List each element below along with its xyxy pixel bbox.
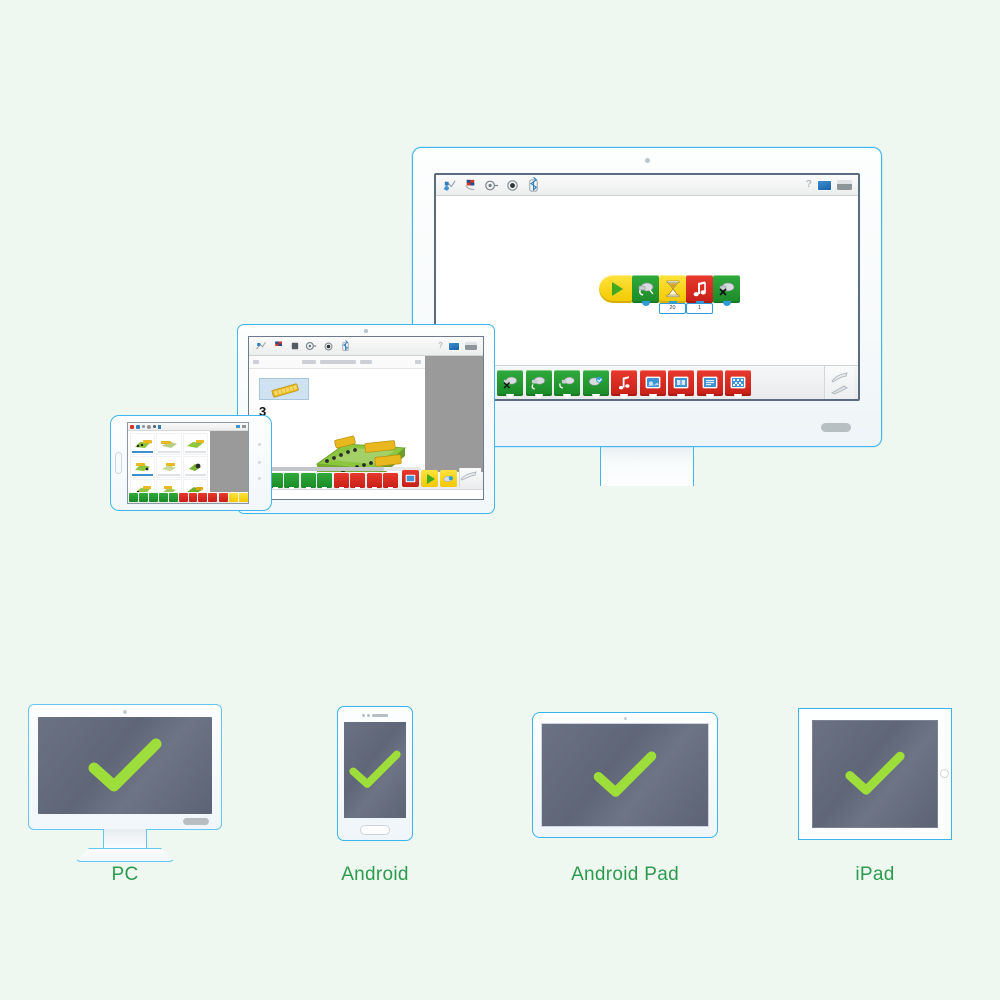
block-palette[interactable] <box>128 492 248 503</box>
checkmark-icon <box>593 751 657 799</box>
brick-thumbnail[interactable] <box>259 378 309 400</box>
phone-screen <box>127 422 249 504</box>
checkmark-icon <box>349 750 401 790</box>
monitor-power-indicator <box>821 423 851 432</box>
compat-label-android-pad: Android Pad <box>500 864 750 886</box>
list-item[interactable] <box>130 433 155 455</box>
compat-label-ipad: iPad <box>750 864 1000 886</box>
panel-icon[interactable] <box>465 342 477 350</box>
monitor-base <box>565 484 729 510</box>
music-note-icon <box>617 375 632 391</box>
palette-block[interactable] <box>129 493 138 502</box>
stop-icon[interactable] <box>142 425 145 428</box>
text-bubble-icon <box>702 376 718 389</box>
home-button[interactable] <box>940 769 949 778</box>
flag-video-icon[interactable] <box>273 340 285 352</box>
palette-tools[interactable] <box>824 366 854 400</box>
lamp-icon <box>586 375 605 390</box>
save-icon[interactable] <box>130 425 134 429</box>
horizontal-scrollbar[interactable] <box>253 467 421 471</box>
stop-button[interactable] <box>402 470 419 487</box>
phone-status-bar <box>344 711 406 720</box>
palette-sound[interactable] <box>611 370 637 396</box>
palette-text[interactable] <box>697 370 723 396</box>
home-button[interactable] <box>360 825 390 835</box>
flag-video-icon[interactable] <box>136 425 140 429</box>
palette-block[interactable] <box>149 493 158 502</box>
list-item[interactable] <box>156 456 181 478</box>
stop-button[interactable] <box>219 493 228 502</box>
checkmark-icon <box>88 738 162 794</box>
wrench-icon[interactable] <box>460 472 478 481</box>
home-button[interactable] <box>115 452 122 474</box>
play-icon <box>427 474 435 484</box>
motor-off-block[interactable] <box>713 275 740 303</box>
display-icon[interactable] <box>236 425 240 428</box>
webcam-icon <box>123 710 127 714</box>
smartphone-icon <box>337 706 413 841</box>
desktop-monitor-icon <box>28 704 222 830</box>
connect-device-icon[interactable] <box>305 340 317 352</box>
palette-block[interactable] <box>179 493 188 502</box>
speaker-icon <box>258 443 261 446</box>
palette-block[interactable] <box>198 493 207 502</box>
lamp-icon <box>443 474 454 484</box>
bluetooth-icon[interactable] <box>158 425 161 429</box>
compat-item-android[interactable]: Android <box>250 686 500 926</box>
palette-lamp[interactable] <box>583 370 609 396</box>
palette-block[interactable] <box>208 493 217 502</box>
ipad-tablet-icon <box>798 708 952 840</box>
motor-power-icon <box>529 375 548 390</box>
palette-block[interactable] <box>301 473 316 488</box>
display-icon[interactable] <box>817 180 832 191</box>
motor-time-icon <box>558 375 577 390</box>
image-icon <box>673 376 689 389</box>
lego-beam-icon <box>260 379 310 401</box>
screen <box>541 723 709 827</box>
palette-motor-power[interactable] <box>526 370 552 396</box>
webcam-icon <box>645 158 650 163</box>
screenshot-stage: ? <box>0 0 1000 1000</box>
screen <box>344 722 406 818</box>
display-icon <box>405 474 416 483</box>
palette-block[interactable] <box>139 493 148 502</box>
save-icon[interactable] <box>442 178 457 193</box>
palette-block[interactable] <box>284 473 299 488</box>
sensor-icon <box>258 477 261 480</box>
motor-icon <box>636 281 656 297</box>
display-icon[interactable] <box>448 342 460 351</box>
palette-image[interactable] <box>668 370 694 396</box>
tablet-screen: ? <box>248 336 484 500</box>
monitor-neck <box>103 829 147 849</box>
play-icon <box>612 282 623 296</box>
monitor-neck <box>600 446 694 486</box>
palette-block[interactable] <box>189 493 198 502</box>
music-note-icon <box>692 280 708 298</box>
motor-stop-icon <box>501 375 520 390</box>
hourglass-icon <box>666 280 680 298</box>
app-toolbar: ? <box>436 175 858 196</box>
program-parameter-row: 20 1 <box>599 303 713 314</box>
stop-icon[interactable] <box>291 342 299 350</box>
front-camera-icon <box>624 717 627 720</box>
palette-block[interactable] <box>334 473 349 488</box>
camera-icon[interactable] <box>153 425 156 428</box>
palette-block[interactable] <box>383 473 398 488</box>
list-item[interactable] <box>183 433 208 455</box>
wait-duration-input[interactable]: 20 <box>659 303 686 314</box>
palette-block[interactable] <box>159 493 168 502</box>
compat-label-android: Android <box>250 864 500 886</box>
screen <box>812 720 938 828</box>
android-phone-device <box>110 415 272 511</box>
monitor-screen: ? <box>434 173 860 401</box>
compatibility-row: PC Android <box>0 686 1000 926</box>
wait-block[interactable] <box>659 275 686 303</box>
sound-block[interactable] <box>686 275 713 303</box>
bluetooth-icon[interactable] <box>526 178 541 193</box>
palette-pattern[interactable] <box>725 370 751 396</box>
connect-device-icon[interactable] <box>147 425 151 429</box>
start-block[interactable] <box>599 275 632 303</box>
motor-stop-icon <box>717 281 737 297</box>
palette-motor-stop[interactable] <box>497 370 523 396</box>
help-icon[interactable]: ? <box>438 342 443 350</box>
compat-label-pc: PC <box>0 864 250 886</box>
pattern-icon <box>730 376 746 389</box>
android-pad-device: ? <box>237 324 495 514</box>
compat-item-android-pad[interactable]: Android Pad <box>500 686 750 926</box>
palette-block[interactable] <box>169 493 178 502</box>
program-block-strip[interactable] <box>599 275 740 303</box>
play-button[interactable] <box>229 493 238 502</box>
step-button[interactable] <box>239 493 248 502</box>
compat-item-pc[interactable]: PC <box>0 686 250 926</box>
display-icon <box>645 376 661 389</box>
motor-block[interactable] <box>632 275 659 303</box>
wrench-icon[interactable] <box>831 372 849 383</box>
android-tablet-icon <box>532 712 718 838</box>
palette-motor-time[interactable] <box>554 370 580 396</box>
save-icon[interactable] <box>255 340 267 352</box>
action-buttons[interactable] <box>402 470 457 487</box>
step-button[interactable] <box>440 470 457 487</box>
block-palette[interactable] <box>436 365 858 399</box>
checkmark-icon <box>845 751 905 797</box>
flag-video-icon[interactable] <box>463 178 478 193</box>
palette-block[interactable] <box>317 473 332 488</box>
compat-item-ipad[interactable]: iPad <box>750 686 1000 926</box>
bluetooth-icon[interactable] <box>340 340 351 353</box>
sound-index-input[interactable]: 1 <box>686 303 713 314</box>
play-button[interactable] <box>421 470 438 487</box>
monitor-base <box>75 848 175 862</box>
palette-display[interactable] <box>640 370 666 396</box>
instruction-subbar <box>249 356 425 369</box>
monitor-power-indicator <box>183 818 209 825</box>
camera-icon <box>258 461 261 464</box>
palette-block[interactable] <box>350 473 365 488</box>
help-icon[interactable]: ? <box>806 180 812 190</box>
pen-icon[interactable] <box>831 385 849 394</box>
front-camera-icon <box>364 329 368 333</box>
panel-icon[interactable] <box>837 180 852 190</box>
screen <box>38 717 212 814</box>
connect-device-icon[interactable] <box>484 178 499 193</box>
list-item[interactable] <box>130 456 155 478</box>
panel-icon[interactable] <box>242 425 246 428</box>
app-toolbar: ? <box>249 337 483 356</box>
app-toolbar <box>128 423 248 431</box>
camera-icon[interactable] <box>323 341 334 352</box>
palette-block[interactable] <box>367 473 382 488</box>
tablet-status-bar <box>249 489 483 499</box>
camera-icon[interactable] <box>505 178 520 193</box>
tool-panel[interactable] <box>459 468 481 487</box>
list-item[interactable] <box>183 456 208 478</box>
list-item[interactable] <box>156 433 181 455</box>
